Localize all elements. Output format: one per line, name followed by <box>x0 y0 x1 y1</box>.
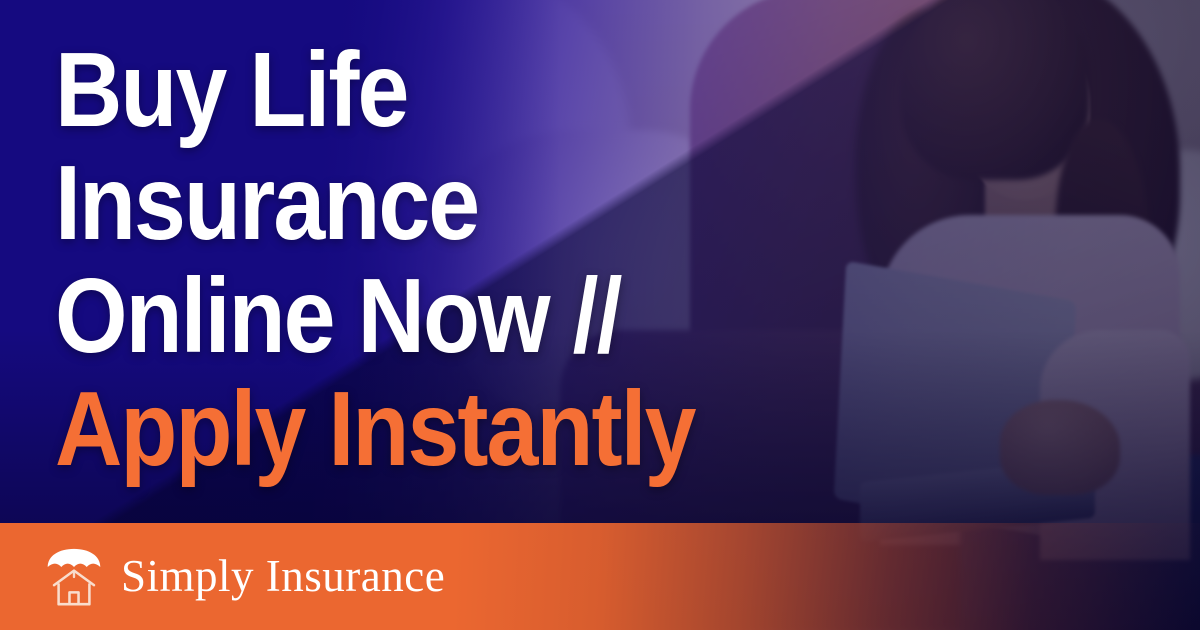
headline-line-2: Insurance <box>55 147 847 260</box>
page-title: Buy Life Insurance Online Now // Apply I… <box>55 34 955 486</box>
headline-line-4: Apply Instantly <box>55 373 847 486</box>
life-insurance-banner: Buy Life Insurance Online Now // Apply I… <box>0 0 1200 630</box>
brand-logo[interactable]: Simply Insurance <box>45 523 445 630</box>
headline-line-1: Buy Life <box>55 34 847 147</box>
umbrella-over-house-icon <box>45 547 103 607</box>
headline-line-3: Online Now // <box>55 260 847 373</box>
brand-name-label: Simply Insurance <box>121 554 445 599</box>
